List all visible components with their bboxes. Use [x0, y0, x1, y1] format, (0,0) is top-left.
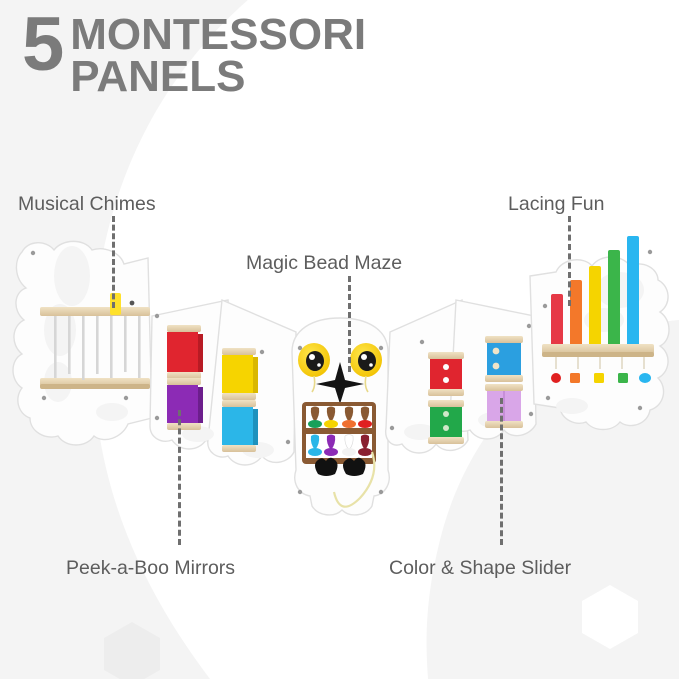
- screw: [130, 301, 135, 306]
- leader-line-color-shape-slider: [500, 398, 503, 545]
- board-dimple: [556, 398, 588, 414]
- purple-mirror-door[interactable]: [167, 378, 203, 430]
- green-bar: [608, 250, 620, 346]
- leader-line-lacing-fun: [568, 216, 571, 306]
- blue-bar: [627, 236, 639, 346]
- green-slider-tile[interactable]: [428, 400, 464, 444]
- panel-peek-a-boo-mirrors[interactable]: [150, 300, 296, 465]
- screw: [648, 250, 652, 254]
- yellow-mirror-door[interactable]: [222, 348, 258, 400]
- owl-eye-left: [298, 343, 330, 377]
- callout-label-peek-a-boo-mirrors: Peek-a-Boo Mirrors: [66, 557, 235, 580]
- screw: [543, 304, 547, 308]
- chime-top-rail: [40, 307, 150, 316]
- board-dimple: [54, 246, 90, 306]
- screw: [286, 440, 290, 444]
- owl-eye-right: [350, 343, 382, 377]
- chime-rail-shadow: [40, 384, 150, 389]
- red-slider-tile[interactable]: [428, 352, 464, 396]
- screw: [379, 346, 383, 350]
- screw: [42, 396, 46, 400]
- red-mirror-door[interactable]: [167, 325, 203, 379]
- screw: [638, 406, 642, 410]
- callout-label-magic-bead-maze: Magic Bead Maze: [246, 252, 402, 275]
- green-bead: [618, 373, 628, 383]
- blue-bead: [639, 373, 651, 383]
- orange-bar: [570, 280, 582, 346]
- violet-slider-tile[interactable]: [485, 384, 523, 428]
- lacing-shelf-shadow: [542, 352, 654, 357]
- screw: [527, 324, 531, 328]
- screw: [390, 426, 394, 430]
- orange-bead: [570, 373, 580, 383]
- screw: [155, 314, 159, 318]
- callout-label-musical-chimes: Musical Chimes: [18, 193, 156, 216]
- leader-line-peek-a-boo-mirrors: [178, 410, 181, 545]
- board-dimple: [96, 403, 128, 421]
- callout-label-lacing-fun: Lacing Fun: [508, 193, 604, 216]
- infographic-canvas: 5 MONTESSORI PANELS: [0, 0, 679, 679]
- screw: [31, 251, 35, 255]
- leader-line-musical-chimes: [112, 216, 115, 308]
- red-bar: [551, 294, 563, 346]
- screw: [260, 350, 264, 354]
- blue-slider-tile[interactable]: [485, 336, 523, 382]
- screw: [529, 412, 533, 416]
- screw: [298, 490, 302, 494]
- red-bead: [551, 373, 561, 383]
- panel-color-shape-slider[interactable]: [386, 300, 536, 453]
- yellow-bead: [594, 373, 604, 383]
- bead-maze[interactable]: [302, 402, 376, 464]
- screw: [420, 340, 424, 344]
- maze-divider: [302, 428, 376, 434]
- yellow-bar: [589, 266, 601, 346]
- panel-musical-chimes[interactable]: [13, 241, 152, 445]
- screw: [124, 396, 128, 400]
- cyan-mirror-door[interactable]: [222, 400, 258, 452]
- callout-label-color-shape-slider: Color & Shape Slider: [389, 557, 571, 580]
- panel-lacing-fun[interactable]: [530, 236, 669, 430]
- leader-line-magic-bead-maze: [348, 276, 351, 372]
- panel-magic-bead-maze[interactable]: [292, 318, 389, 515]
- screw: [155, 416, 159, 420]
- screw: [546, 396, 550, 400]
- screw: [379, 490, 383, 494]
